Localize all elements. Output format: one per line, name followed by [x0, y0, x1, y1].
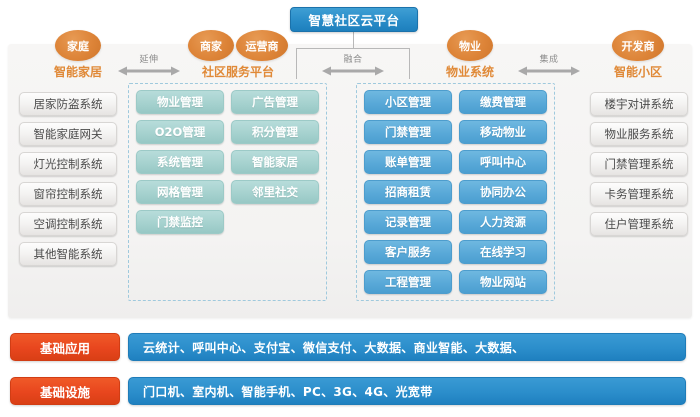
group-community-service-col-2: 广告管理 积分管理 智能家居 邻里社交	[231, 90, 319, 294]
item-pill[interactable]: 工程管理	[364, 270, 452, 294]
item-pill[interactable]: 灯光控制系统	[19, 152, 117, 176]
item-pill[interactable]: 智能家居	[231, 150, 319, 174]
group-property-system-col-1: 小区管理 门禁管理 账单管理 招商租赁 记录管理 客户服务 工程管理	[364, 90, 452, 294]
item-pill[interactable]: 广告管理	[231, 90, 319, 114]
relation-fuse-label: 融合	[322, 52, 384, 65]
item-pill[interactable]: 积分管理	[231, 120, 319, 144]
item-pill[interactable]: 邻里社交	[231, 180, 319, 204]
group-community-service: 物业管理 O2O管理 系统管理 网格管理 门禁监控 广告管理 积分管理 智能家居…	[128, 83, 327, 301]
actor-bubble: 运营商	[236, 30, 288, 61]
double-arrow-icon	[118, 65, 180, 77]
item-pill[interactable]: 住户管理系统	[590, 212, 688, 236]
relation-integrate: 集成	[518, 52, 580, 77]
diagram-canvas: 智慧社区云平台 家庭 智能家居 商家 运营商 社区服务平台 物业 物业系统 开发…	[0, 0, 700, 417]
group-property-system-col-2: 缴费管理 移动物业 呼叫中心 协同办公 人力资源 在线学习 物业网站	[459, 90, 547, 294]
actor-developer-label: 智能小区	[586, 63, 690, 80]
item-pill[interactable]: 人力资源	[459, 210, 547, 234]
relation-extend-label: 延伸	[118, 52, 180, 65]
group-smart-community-col-1: 楼宇对讲系统 物业服务系统 门禁管理系统 卡务管理系统 住户管理系统	[590, 92, 688, 236]
item-pill[interactable]: 门禁监控	[136, 210, 224, 234]
connector-horizontal-bar	[296, 48, 410, 49]
connector-drop-left	[296, 48, 297, 79]
group-community-service-col-1: 物业管理 O2O管理 系统管理 网格管理 门禁监控	[136, 90, 224, 294]
actor-bubble: 物业	[447, 30, 493, 61]
group-smart-home-col-1: 居家防盗系统 智能家庭网关 灯光控制系统 窗帘控制系统 空调控制系统 其他智能系…	[19, 92, 117, 266]
actor-home-label: 智能家居	[30, 63, 126, 80]
item-pill[interactable]: 门禁管理系统	[590, 152, 688, 176]
connector-drop-right	[409, 48, 410, 79]
connector-vertical-trunk	[353, 32, 354, 49]
item-pill[interactable]: 移动物业	[459, 120, 547, 144]
item-pill[interactable]: 物业网站	[459, 270, 547, 294]
actor-developer: 开发商 智能小区	[586, 30, 690, 80]
relation-integrate-label: 集成	[518, 52, 580, 65]
group-smart-home: 居家防盗系统 智能家庭网关 灯光控制系统 窗帘控制系统 空调控制系统 其他智能系…	[12, 86, 124, 272]
item-pill[interactable]: 在线学习	[459, 240, 547, 264]
item-pill[interactable]: 物业服务系统	[590, 122, 688, 146]
item-pill[interactable]: 缴费管理	[459, 90, 547, 114]
item-pill[interactable]: 门禁管理	[364, 120, 452, 144]
actor-home: 家庭 智能家居	[30, 30, 126, 80]
actor-property: 物业 物业系统	[418, 30, 522, 80]
actor-merchant-label: 社区服务平台	[180, 63, 296, 80]
double-arrow-icon	[518, 65, 580, 77]
actor-bubble: 家庭	[55, 30, 101, 61]
item-pill[interactable]: 智能家庭网关	[19, 122, 117, 146]
actor-bubble: 开发商	[612, 30, 664, 61]
item-pill[interactable]: 招商租赁	[364, 180, 452, 204]
item-pill[interactable]: 系统管理	[136, 150, 224, 174]
item-pill[interactable]: 协同办公	[459, 180, 547, 204]
actor-developer-bubbles: 开发商	[586, 30, 690, 61]
item-pill[interactable]: O2O管理	[136, 120, 224, 144]
item-pill[interactable]: 居家防盗系统	[19, 92, 117, 116]
item-pill[interactable]: 空调控制系统	[19, 212, 117, 236]
infrastructure-tag[interactable]: 基础设施	[10, 377, 120, 405]
row-basic-application: 基础应用 云统计、呼叫中心、支付宝、微信支付、大数据、商业智能、大数据、	[10, 333, 686, 361]
actor-merchant-bubbles: 商家 运营商	[180, 30, 296, 61]
group-property-system: 小区管理 门禁管理 账单管理 招商租赁 记录管理 客户服务 工程管理 缴费管理 …	[356, 83, 555, 301]
infrastructure-value[interactable]: 门口机、室内机、智能手机、PC、3G、4G、光宽带	[128, 377, 686, 405]
row-infrastructure: 基础设施 门口机、室内机、智能手机、PC、3G、4G、光宽带	[10, 377, 686, 405]
group-smart-community: 楼宇对讲系统 物业服务系统 门禁管理系统 卡务管理系统 住户管理系统	[583, 86, 695, 242]
relation-fuse: 融合	[322, 52, 384, 77]
item-pill[interactable]: 卡务管理系统	[590, 182, 688, 206]
actor-merchant-operator: 商家 运营商 社区服务平台	[180, 30, 296, 80]
actor-bubble: 商家	[188, 30, 234, 61]
item-pill[interactable]: 账单管理	[364, 150, 452, 174]
actor-property-bubbles: 物业	[418, 30, 522, 61]
item-pill[interactable]: 其他智能系统	[19, 242, 117, 266]
item-pill[interactable]: 窗帘控制系统	[19, 182, 117, 206]
actor-home-bubbles: 家庭	[30, 30, 126, 61]
item-pill[interactable]: 呼叫中心	[459, 150, 547, 174]
double-arrow-icon	[322, 65, 384, 77]
item-pill[interactable]: 网格管理	[136, 180, 224, 204]
relation-extend: 延伸	[118, 52, 180, 77]
basic-application-value[interactable]: 云统计、呼叫中心、支付宝、微信支付、大数据、商业智能、大数据、	[128, 333, 686, 361]
actor-property-label: 物业系统	[418, 63, 522, 80]
cloud-platform-title[interactable]: 智慧社区云平台	[290, 7, 418, 32]
item-pill[interactable]: 小区管理	[364, 90, 452, 114]
item-pill[interactable]: 客户服务	[364, 240, 452, 264]
item-pill[interactable]: 楼宇对讲系统	[590, 92, 688, 116]
item-pill[interactable]: 记录管理	[364, 210, 452, 234]
item-pill[interactable]: 物业管理	[136, 90, 224, 114]
basic-application-tag[interactable]: 基础应用	[10, 333, 120, 361]
